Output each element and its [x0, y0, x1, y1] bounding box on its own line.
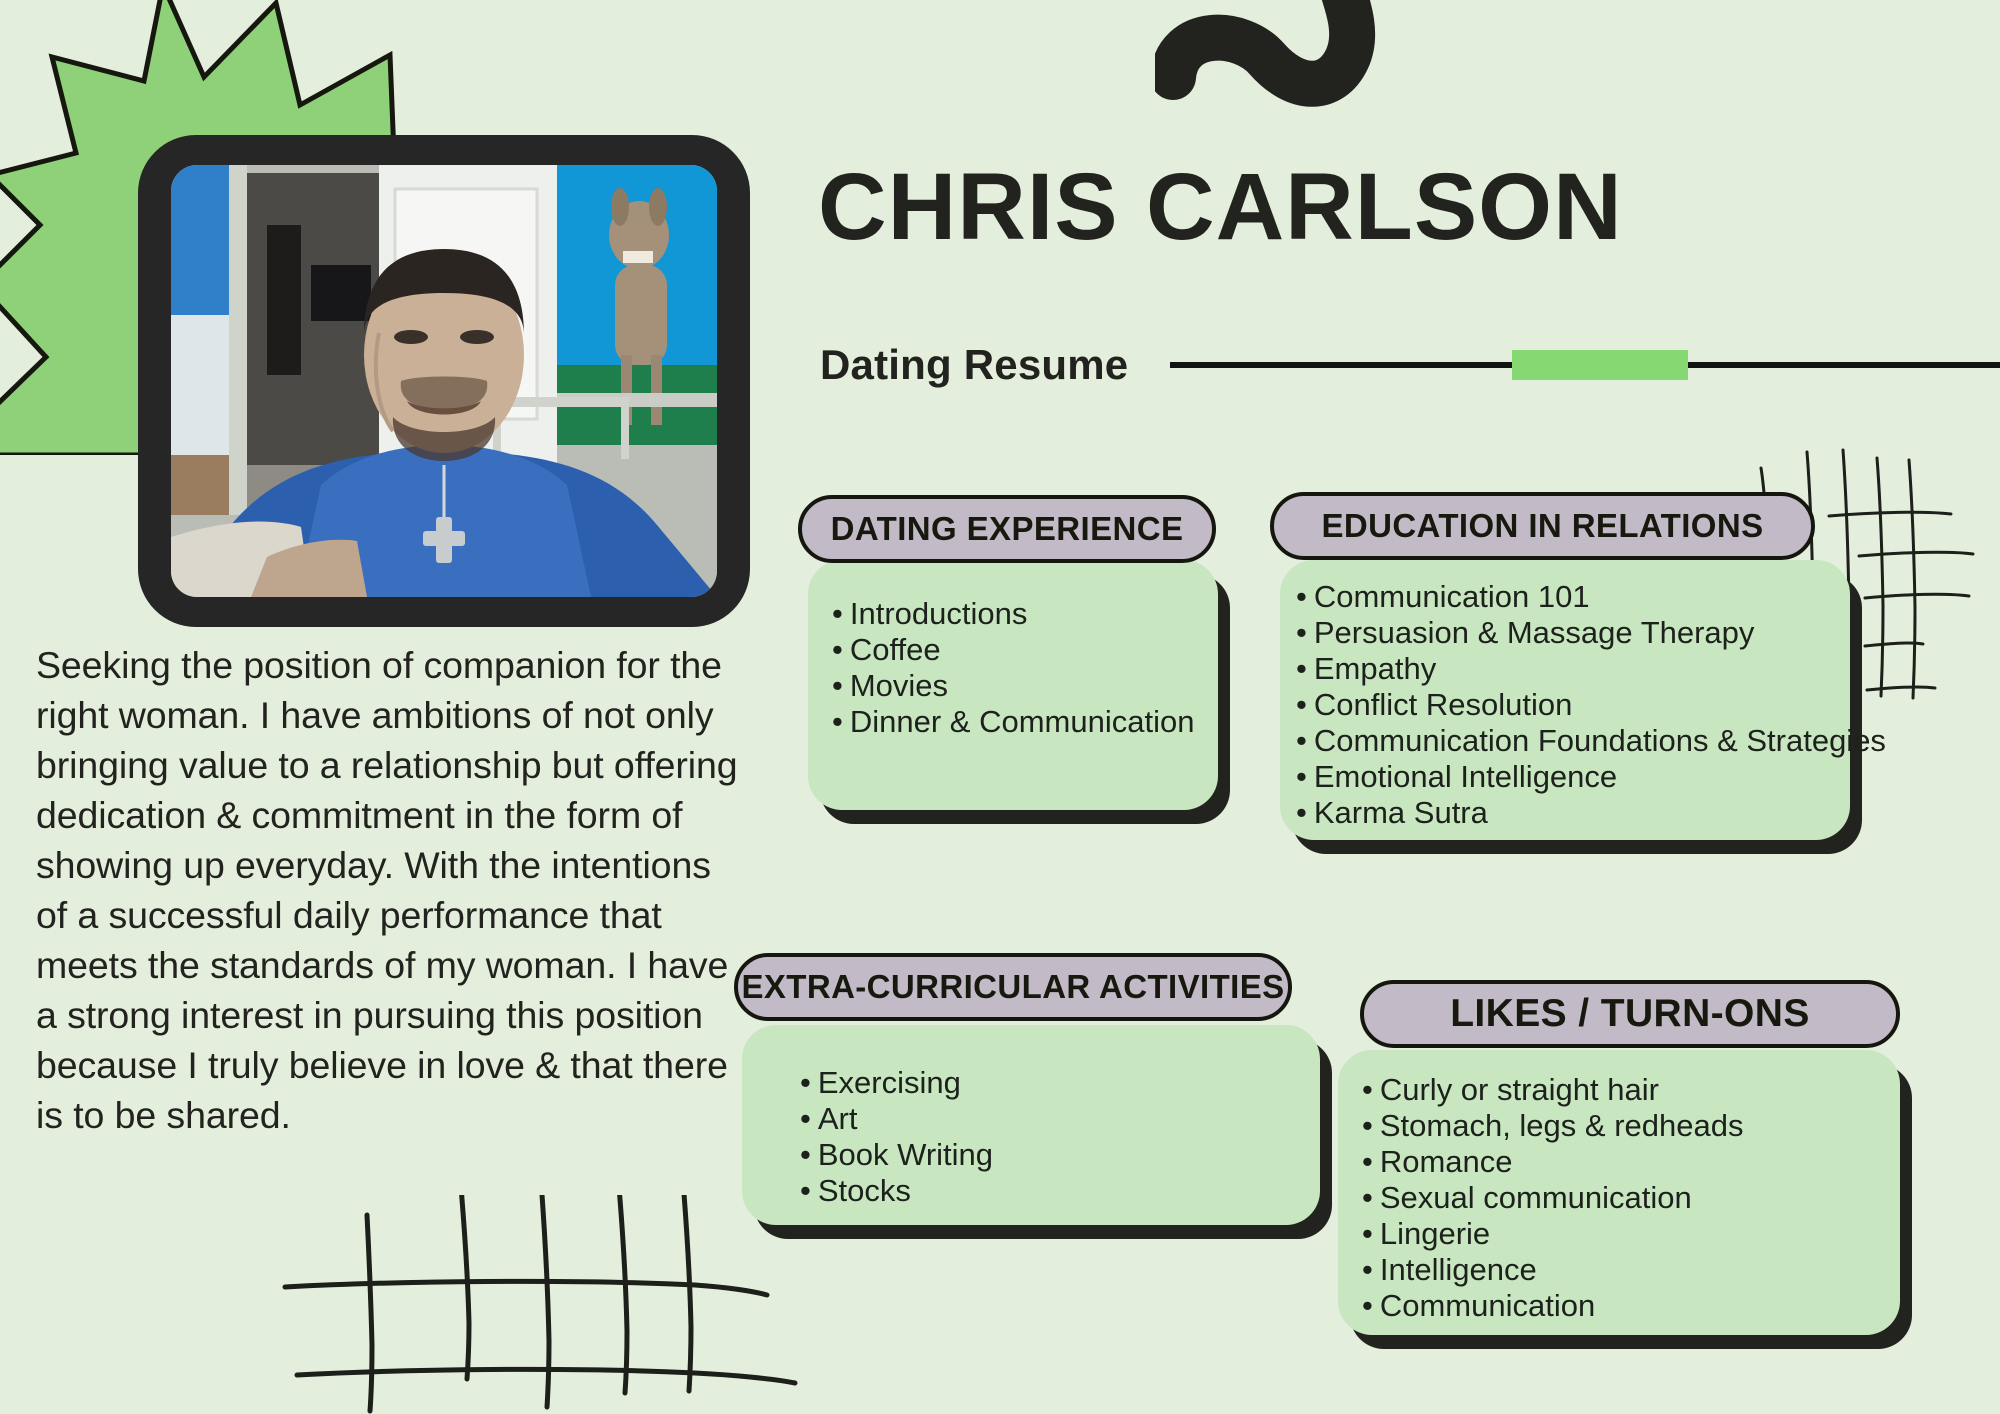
bullet-icon: •	[1362, 1108, 1373, 1143]
profile-photo-frame	[138, 135, 750, 627]
list-item: •Sexual communication	[1362, 1180, 1743, 1216]
profile-photo	[171, 165, 717, 597]
bullet-icon: •	[1362, 1072, 1373, 1107]
list-extra-curricular-activities: •Exercising •Art •Book Writing •Stocks	[800, 1065, 993, 1209]
list-item: •Dinner & Communication	[832, 704, 1194, 740]
page-subtitle: Dating Resume	[820, 341, 1128, 389]
list-item: •Exercising	[800, 1065, 993, 1101]
list-item: •Conflict Resolution	[1296, 687, 1886, 723]
squiggle-icon	[1155, 0, 1485, 120]
list-item: •Communication Foundations & Strategies	[1296, 723, 1886, 759]
bullet-icon: •	[832, 632, 843, 667]
bullet-icon: •	[800, 1137, 811, 1172]
bullet-icon: •	[800, 1065, 811, 1100]
list-likes-turn-ons: •Curly or straight hair •Stomach, legs &…	[1362, 1072, 1743, 1324]
list-item: •Emotional Intelligence	[1296, 759, 1886, 795]
card-likes-turn-ons: LIKES / TURN-ONS •Curly or straight hair…	[1338, 1050, 1900, 1335]
list-item: •Art	[800, 1101, 993, 1137]
list-item: •Introductions	[832, 596, 1194, 632]
bullet-icon: •	[800, 1101, 811, 1136]
intro-paragraph: Seeking the position of companion for th…	[36, 640, 748, 1140]
bullet-icon: •	[1362, 1288, 1373, 1323]
card-dating-experience: DATING EXPERIENCE •Introductions •Coffee…	[808, 560, 1218, 810]
card-extra-curricular-activities: EXTRA-CURRICULAR ACTIVITIES •Exercising …	[742, 1025, 1320, 1225]
list-item: •Persuasion & Massage Therapy	[1296, 615, 1886, 651]
bullet-icon: •	[832, 668, 843, 703]
bullet-icon: •	[1362, 1216, 1373, 1251]
bullet-icon: •	[1296, 687, 1307, 722]
bullet-icon: •	[1296, 651, 1307, 686]
card-title-education-in-relations: EDUCATION IN RELATIONS	[1270, 492, 1815, 560]
list-item: •Coffee	[832, 632, 1194, 668]
card-education-in-relations: EDUCATION IN RELATIONS •Communication 10…	[1280, 560, 1850, 840]
list-item: •Karma Sutra	[1296, 795, 1886, 831]
bullet-icon: •	[1362, 1180, 1373, 1215]
bullet-icon: •	[1362, 1252, 1373, 1287]
list-item: •Stocks	[800, 1173, 993, 1209]
list-item: •Romance	[1362, 1144, 1743, 1180]
list-item: •Intelligence	[1362, 1252, 1743, 1288]
list-item: •Lingerie	[1362, 1216, 1743, 1252]
list-item: •Empathy	[1296, 651, 1886, 687]
grid-doodle-icon	[275, 1195, 815, 1414]
list-item: •Curly or straight hair	[1362, 1072, 1743, 1108]
subtitle-row: Dating Resume	[820, 330, 2000, 400]
poster-canvas: CHRIS CARLSON Dating Resume Seeking the …	[0, 0, 2000, 1414]
bullet-icon: •	[800, 1173, 811, 1208]
bullet-icon: •	[1296, 795, 1307, 830]
list-item: •Communication	[1362, 1288, 1743, 1324]
list-item: •Communication 101	[1296, 579, 1886, 615]
card-title-dating-experience: DATING EXPERIENCE	[798, 495, 1216, 563]
header-divider	[1170, 348, 2000, 382]
card-title-likes-turn-ons: LIKES / TURN-ONS	[1360, 980, 1900, 1048]
list-item: •Movies	[832, 668, 1194, 704]
bullet-icon: •	[1296, 723, 1307, 758]
bullet-icon: •	[832, 704, 843, 739]
bullet-icon: •	[832, 596, 843, 631]
list-item: •Stomach, legs & redheads	[1362, 1108, 1743, 1144]
bullet-icon: •	[1296, 759, 1307, 794]
card-title-extra-curricular-activities: EXTRA-CURRICULAR ACTIVITIES	[734, 953, 1292, 1021]
page-title: CHRIS CARLSON	[818, 160, 1623, 255]
bullet-icon: •	[1362, 1144, 1373, 1179]
bullet-icon: •	[1296, 615, 1307, 650]
bullet-icon: •	[1296, 579, 1307, 614]
list-education-in-relations: •Communication 101 •Persuasion & Massage…	[1296, 579, 1886, 831]
list-dating-experience: •Introductions •Coffee •Movies •Dinner &…	[832, 596, 1194, 740]
divider-accent-block	[1512, 350, 1688, 380]
list-item: •Book Writing	[800, 1137, 993, 1173]
